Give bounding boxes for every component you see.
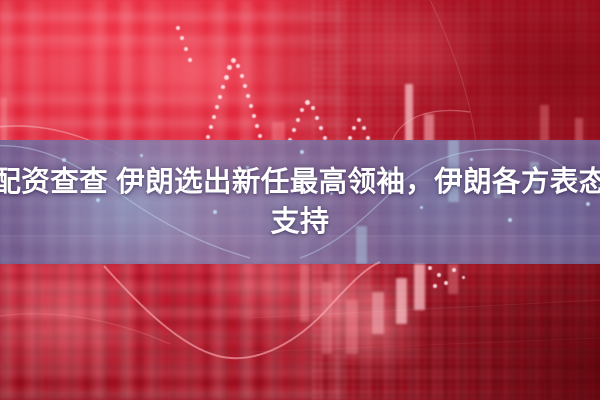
headline-line-2: 支持 (271, 204, 330, 240)
headline-text-block: 配资查查 伊朗选出新任最高领袖，伊朗各方表态 支持 (0, 140, 600, 264)
news-thumbnail-image: 配资查查 伊朗选出新任最高领袖，伊朗各方表态 支持 (0, 0, 600, 400)
headline-line-1: 配资查查 伊朗选出新任最高领袖，伊朗各方表态 (0, 164, 600, 200)
